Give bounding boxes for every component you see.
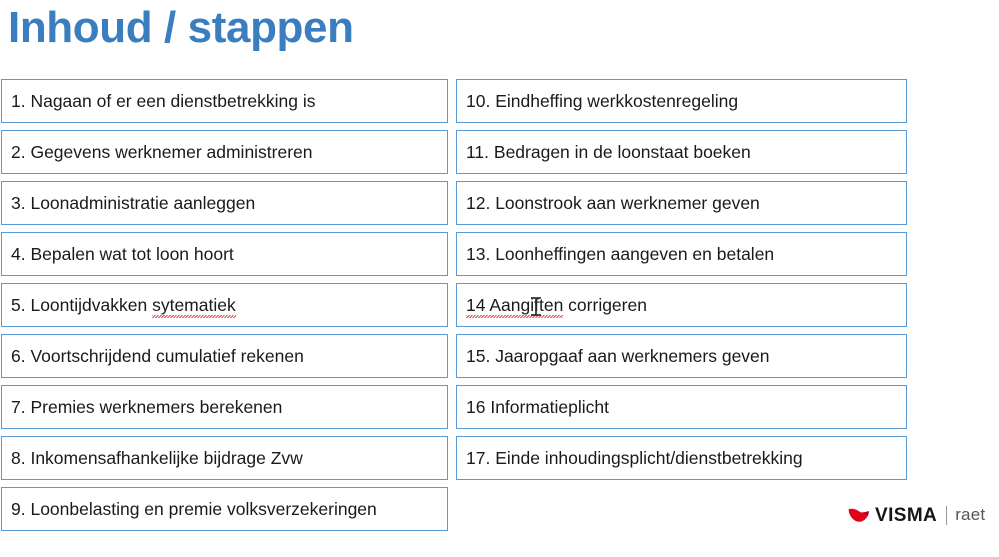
step-label: 15. Jaaropgaaf aan werknemers geven: [466, 346, 770, 366]
step-box[interactable]: 12. Loonstrook aan werknemer geven: [456, 181, 907, 225]
step-box[interactable]: 2. Gegevens werknemer administreren: [1, 130, 448, 174]
step-label: 12. Loonstrook aan werknemer geven: [466, 193, 760, 213]
step-box[interactable]: 15. Jaaropgaaf aan werknemers geven: [456, 334, 907, 378]
step-box[interactable]: 13. Loonheffingen aangeven en betalen: [456, 232, 907, 276]
step-box[interactable]: 4. Bepalen wat tot loon hoort: [1, 232, 448, 276]
slide-canvas: Inhoud / stappen 1. Nagaan of er een die…: [0, 0, 999, 557]
step-label: 16 Informatieplicht: [466, 397, 609, 417]
raet-wordmark: raet: [955, 506, 985, 524]
step-box[interactable]: 5. Loontijdvakken sytematiek: [1, 283, 448, 327]
step-label: 11. Bedragen in de loonstaat boeken: [466, 142, 751, 162]
step-label: 14 Aangiften corrigeren: [466, 295, 647, 315]
misspelled-word: 14 Aangiften: [466, 295, 563, 315]
steps-column-right: 10. Eindheffing werkkostenregeling11. Be…: [456, 79, 907, 487]
step-label: 9. Loonbelasting en premie volksverzeker…: [11, 499, 377, 519]
step-box[interactable]: 16 Informatieplicht: [456, 385, 907, 429]
step-label: 6. Voortschrijdend cumulatief rekenen: [11, 346, 304, 366]
step-label: 4. Bepalen wat tot loon hoort: [11, 244, 234, 264]
step-box[interactable]: 10. Eindheffing werkkostenregeling: [456, 79, 907, 123]
step-box[interactable]: 1. Nagaan of er een dienstbetrekking is: [1, 79, 448, 123]
logo-divider: [946, 506, 947, 525]
step-label: 17. Einde inhoudingsplicht/dienstbetrekk…: [466, 448, 803, 468]
step-box[interactable]: 17. Einde inhoudingsplicht/dienstbetrekk…: [456, 436, 907, 480]
step-label: 1. Nagaan of er een dienstbetrekking is: [11, 91, 316, 111]
step-box[interactable]: 9. Loonbelasting en premie volksverzeker…: [1, 487, 448, 531]
step-label: 13. Loonheffingen aangeven en betalen: [466, 244, 774, 264]
page-title: Inhoud / stappen: [8, 0, 354, 58]
step-box[interactable]: 7. Premies werknemers berekenen: [1, 385, 448, 429]
step-label: 5. Loontijdvakken sytematiek: [11, 295, 236, 315]
step-box[interactable]: 3. Loonadministratie aanleggen: [1, 181, 448, 225]
step-label: 10. Eindheffing werkkostenregeling: [466, 91, 738, 111]
brand-logo: VISMA raet: [848, 503, 985, 527]
steps-column-left: 1. Nagaan of er een dienstbetrekking is2…: [1, 79, 448, 538]
step-box[interactable]: 8. Inkomensafhankelijke bijdrage Zvw: [1, 436, 448, 480]
visma-swoosh-icon: [848, 507, 870, 523]
step-box[interactable]: 11. Bedragen in de loonstaat boeken: [456, 130, 907, 174]
step-label: 2. Gegevens werknemer administreren: [11, 142, 313, 162]
step-box[interactable]: 6. Voortschrijdend cumulatief rekenen: [1, 334, 448, 378]
step-label: 3. Loonadministratie aanleggen: [11, 193, 255, 213]
step-label: 8. Inkomensafhankelijke bijdrage Zvw: [11, 448, 303, 468]
misspelled-word: sytematiek: [152, 295, 236, 315]
step-label: 7. Premies werknemers berekenen: [11, 397, 282, 417]
visma-wordmark: VISMA: [875, 506, 937, 525]
step-box[interactable]: 14 Aangiften corrigeren: [456, 283, 907, 327]
